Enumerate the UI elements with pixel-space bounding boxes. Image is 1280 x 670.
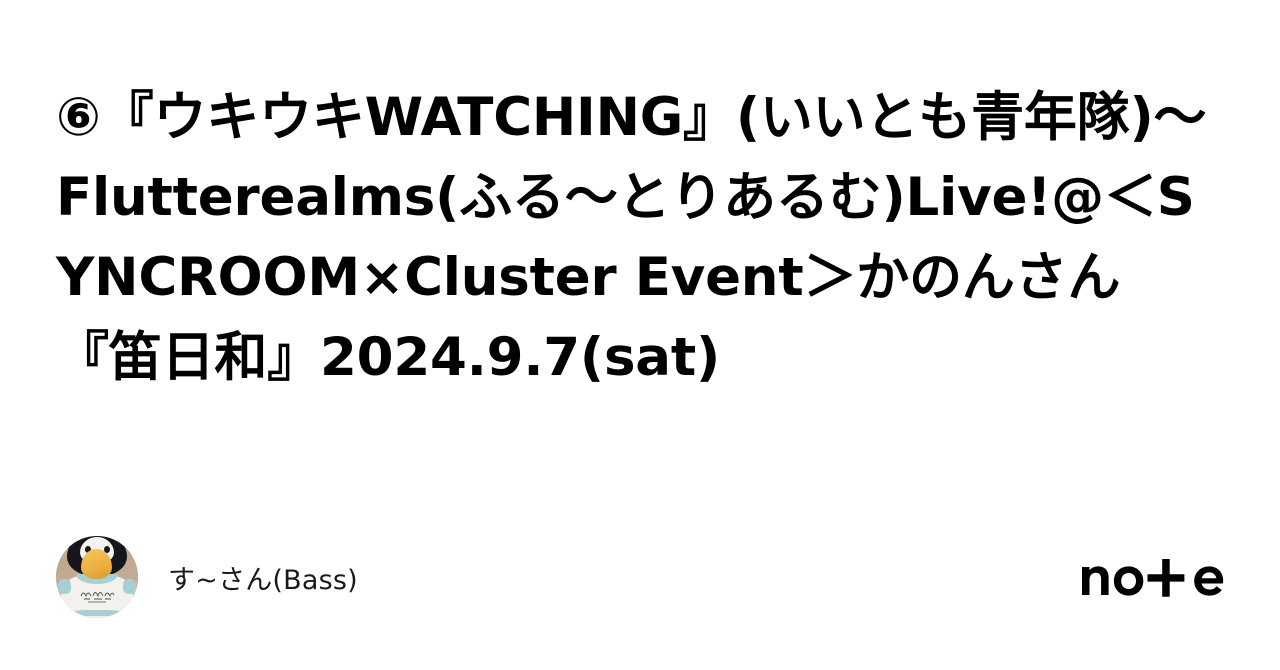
page-title: ⑥『ウキウキWATCHING』(いいとも青年隊)〜Flutterealms(ふる… [56, 78, 1224, 398]
footer-row: す~さん(Bass) [56, 534, 1224, 620]
note-article-ogp-card: ⑥『ウキウキWATCHING』(いいとも青年隊)〜Flutterealms(ふる… [0, 0, 1280, 670]
title-block: ⑥『ウキウキWATCHING』(いいとも青年隊)〜Flutterealms(ふる… [56, 78, 1224, 398]
avatar-photo [56, 536, 138, 618]
avatar[interactable] [56, 536, 138, 618]
author-name: す~さん(Bass) [168, 558, 358, 597]
author-group[interactable]: す~さん(Bass) [56, 536, 358, 618]
note-logo[interactable] [1082, 557, 1224, 597]
